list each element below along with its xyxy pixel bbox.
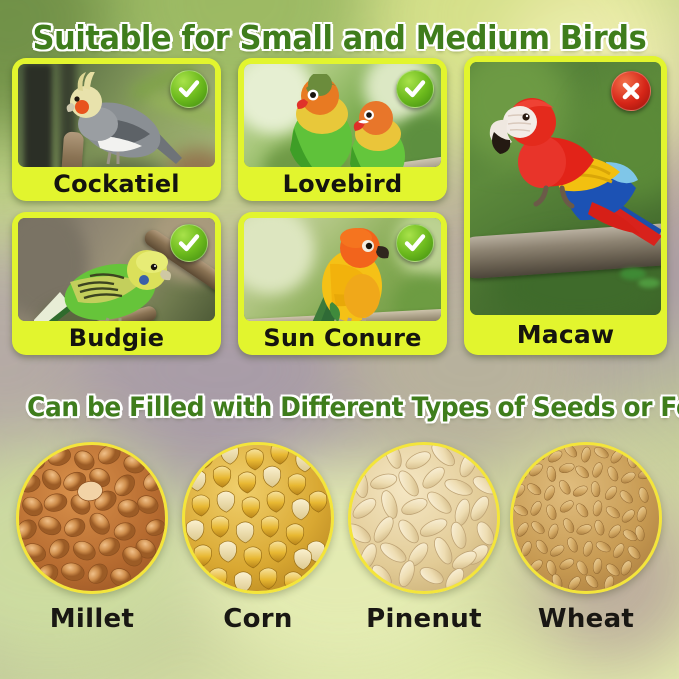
seed-item-millet[interactable]: Millet xyxy=(12,442,172,634)
bird-card-grid: Cockatiel xyxy=(12,58,667,363)
seed-photo-corn xyxy=(182,442,334,594)
seed-photo-wheat xyxy=(510,442,662,594)
seed-label-millet: Millet xyxy=(12,604,172,634)
lovebird-illustration-right xyxy=(340,98,418,167)
bird-photo-macaw xyxy=(470,62,661,315)
bird-photo-lovebird xyxy=(244,64,441,167)
bird-card-budgie[interactable]: Budgie xyxy=(12,212,221,355)
bird-card-cockatiel[interactable]: Cockatiel xyxy=(12,58,221,201)
bird-label-lovebird: Lovebird xyxy=(244,167,441,201)
seed-item-pinenut[interactable]: Pinenut xyxy=(344,442,504,634)
seed-photo-millet xyxy=(16,442,168,594)
bird-label-cockatiel: Cockatiel xyxy=(18,167,215,201)
check-icon xyxy=(396,70,434,108)
seed-type-row: Millet xyxy=(0,442,679,679)
cockatiel-illustration xyxy=(54,72,184,167)
budgie-illustration xyxy=(34,234,182,321)
seed-label-pinenut: Pinenut xyxy=(344,604,504,634)
seed-item-wheat[interactable]: Wheat xyxy=(506,442,666,634)
seed-item-corn[interactable]: Corn xyxy=(178,442,338,634)
check-icon xyxy=(170,224,208,262)
cross-icon xyxy=(611,71,651,111)
bird-label-budgie: Budgie xyxy=(18,321,215,355)
bird-photo-cockatiel xyxy=(18,64,215,167)
bird-label-sun-conure: Sun Conure xyxy=(244,321,441,355)
check-icon xyxy=(396,224,434,262)
bird-card-sun-conure[interactable]: Sun Conure xyxy=(238,212,447,355)
check-icon xyxy=(170,70,208,108)
bird-photo-budgie xyxy=(18,218,215,321)
bird-label-macaw: Macaw xyxy=(470,315,661,355)
bird-card-lovebird[interactable]: Lovebird xyxy=(238,58,447,201)
bird-card-macaw[interactable]: Macaw xyxy=(464,56,667,355)
bird-photo-sun-conure xyxy=(244,218,441,321)
seed-photo-pinenut xyxy=(348,442,500,594)
page-title-birds: Suitable for Small and Medium Birds xyxy=(27,18,652,58)
infographic-page: Suitable for Small and Medium Birds xyxy=(0,0,679,679)
page-title-seeds: Can be Filled with Different Types of Se… xyxy=(27,391,652,425)
seed-label-wheat: Wheat xyxy=(506,604,666,634)
sun-conure-illustration xyxy=(300,224,404,321)
seed-label-corn: Corn xyxy=(178,604,338,634)
